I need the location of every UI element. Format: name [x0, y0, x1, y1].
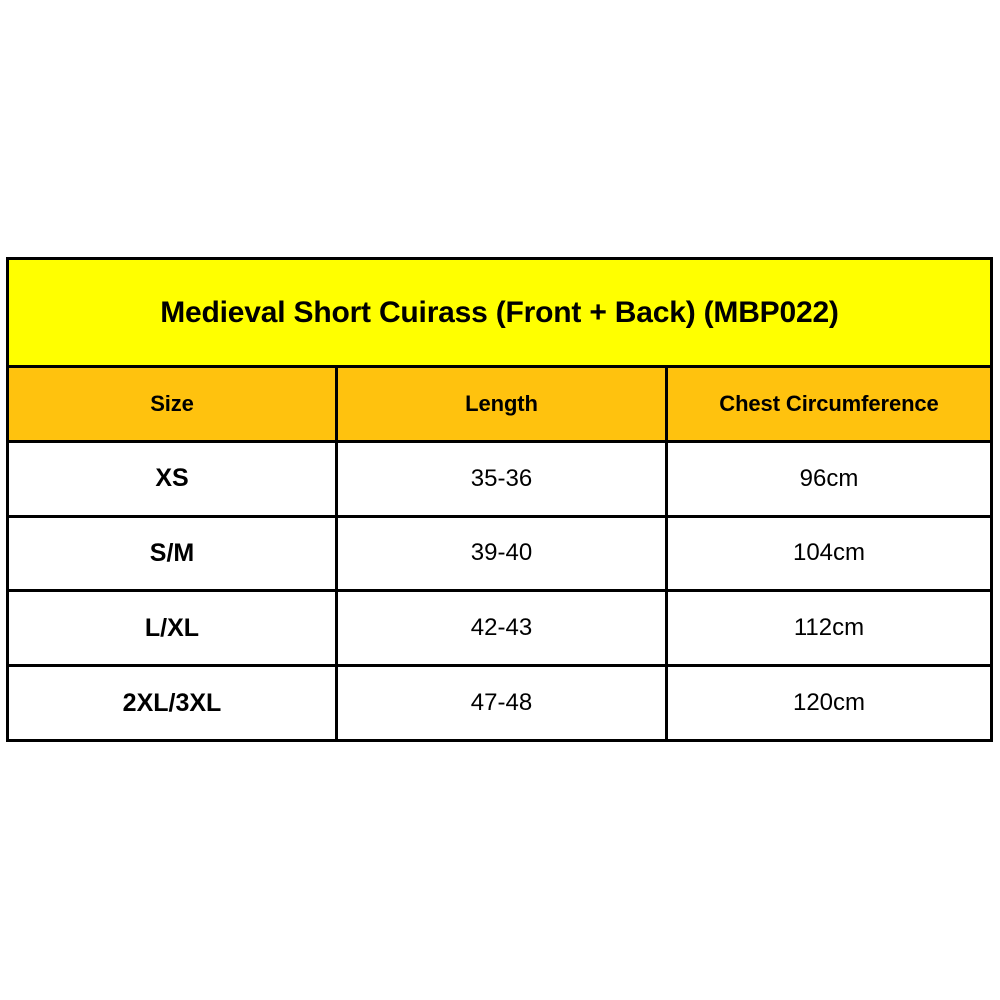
size-chart-table: Medieval Short Cuirass (Front + Back) (M…	[6, 257, 993, 742]
cell-length: 47-48	[338, 667, 668, 739]
table-row: XS 35-36 96cm	[9, 443, 990, 518]
table-row: S/M 39-40 104cm	[9, 518, 990, 593]
column-header-size: Size	[9, 368, 338, 440]
table-header-row: Size Length Chest Circumference	[9, 368, 990, 443]
cell-chest: 112cm	[668, 592, 990, 664]
table-row: 2XL/3XL 47-48 120cm	[9, 667, 990, 739]
cell-chest: 120cm	[668, 667, 990, 739]
cell-size: S/M	[9, 518, 338, 590]
chart-grid: Size Length Chest Circumference XS 35-36…	[9, 368, 990, 739]
column-header-chest-circumference: Chest Circumference	[668, 368, 990, 440]
chart-title-text: Medieval Short Cuirass (Front + Back) (M…	[146, 296, 852, 329]
cell-chest: 96cm	[668, 443, 990, 515]
cell-size: XS	[9, 443, 338, 515]
table-row: L/XL 42-43 112cm	[9, 592, 990, 667]
column-header-length: Length	[338, 368, 668, 440]
cell-size: 2XL/3XL	[9, 667, 338, 739]
cell-size: L/XL	[9, 592, 338, 664]
chart-title-banner: Medieval Short Cuirass (Front + Back) (M…	[9, 260, 990, 368]
cell-length: 35-36	[338, 443, 668, 515]
cell-length: 39-40	[338, 518, 668, 590]
cell-length: 42-43	[338, 592, 668, 664]
cell-chest: 104cm	[668, 518, 990, 590]
